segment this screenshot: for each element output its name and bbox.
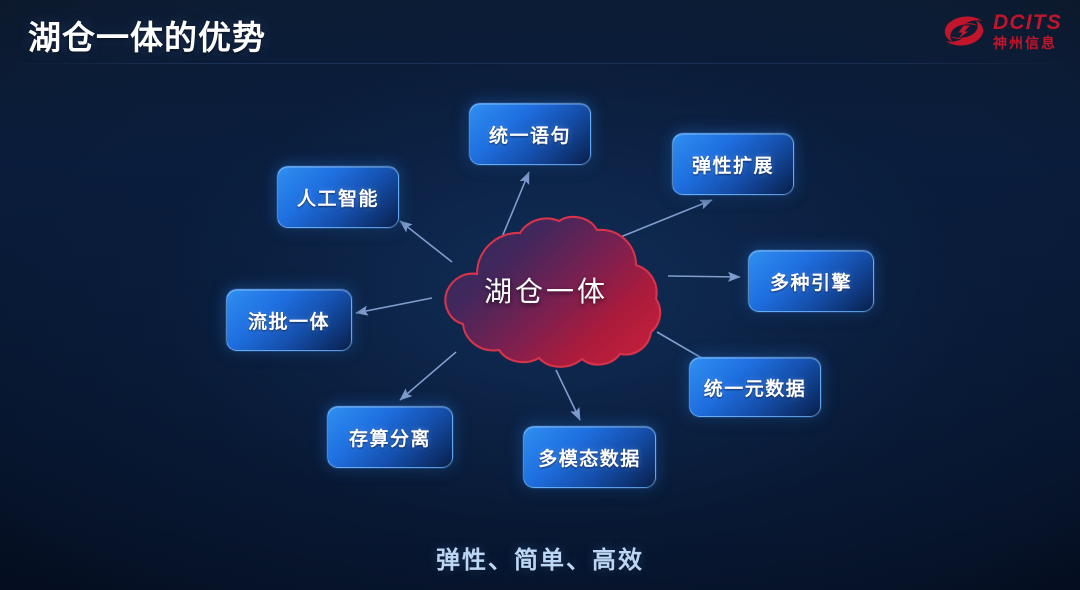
slide-header: 湖仓一体的优势 DCITS 神州信息 [0, 0, 1080, 64]
cloud-shape-icon [415, 212, 677, 374]
logo-english: DCITS [993, 12, 1062, 33]
node-elastic-scaling[interactable]: 弹性扩展 [672, 133, 794, 195]
node-label-ai: 人工智能 [297, 184, 379, 211]
center-cloud-node: 湖仓一体 [415, 212, 677, 374]
logo-chinese: 神州信息 [993, 36, 1062, 50]
node-label-multimodal-data: 多模态数据 [538, 444, 641, 471]
page-title: 湖仓一体的优势 [28, 11, 266, 59]
node-multi-engine[interactable]: 多种引擎 [748, 250, 874, 312]
logo-wordmark: DCITS 神州信息 [993, 12, 1062, 50]
node-stream-batch[interactable]: 流批一体 [226, 289, 352, 351]
dcits-swoosh-icon [942, 14, 986, 48]
node-storage-compute[interactable]: 存算分离 [327, 406, 453, 468]
node-label-stream-batch: 流批一体 [248, 307, 330, 334]
node-label-elastic-scaling: 弹性扩展 [692, 151, 774, 178]
node-ai[interactable]: 人工智能 [277, 166, 399, 228]
slide-canvas: 湖仓一体的优势 DCITS 神州信息 湖仓一体 统一语句 弹性扩展 人 [0, 0, 1080, 590]
brand-logo: DCITS 神州信息 [942, 8, 1062, 54]
node-label-unified-metadata: 统一元数据 [704, 374, 807, 401]
footer-tagline: 弹性、简单、高效 [0, 540, 1080, 575]
connector-multi-engine [668, 276, 740, 277]
node-label-unified-syntax: 统一语句 [489, 121, 571, 148]
header-divider [0, 63, 1080, 64]
node-multimodal-data[interactable]: 多模态数据 [523, 426, 656, 488]
connector-multimodal-data [556, 370, 580, 420]
node-label-storage-compute: 存算分离 [349, 424, 431, 451]
node-unified-metadata[interactable]: 统一元数据 [689, 357, 821, 417]
node-label-multi-engine: 多种引擎 [770, 268, 852, 295]
node-unified-syntax[interactable]: 统一语句 [469, 103, 591, 165]
